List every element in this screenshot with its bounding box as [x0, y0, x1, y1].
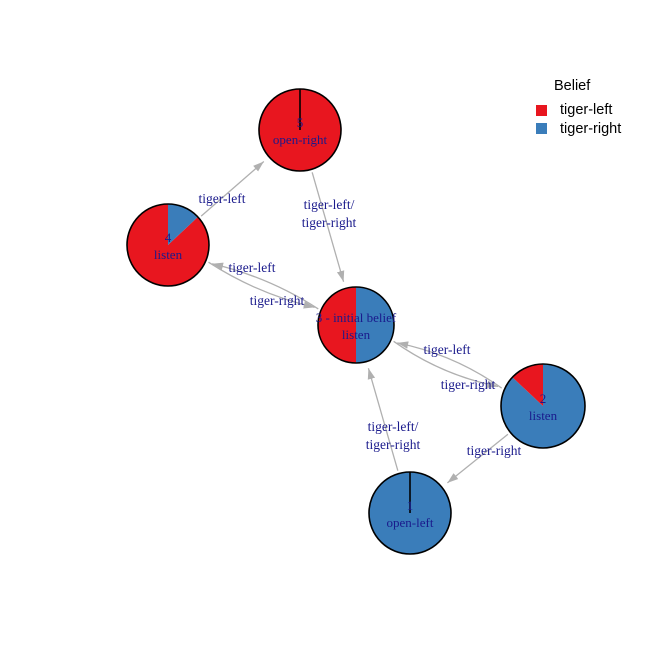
legend-swatch-tiger-left [536, 105, 547, 116]
node-id-label: 3 - initial belief [316, 310, 397, 325]
edge-label-2-to-3: tiger-left [424, 342, 471, 357]
node-1[interactable]: 1open-left [369, 472, 451, 554]
node-5[interactable]: 5open-right [259, 89, 341, 171]
diagram-canvas: 5open-right4listen3 - initial belieflist… [0, 0, 672, 672]
edge-label-4-to-5: tiger-left [199, 191, 246, 206]
nodes-group: 5open-right4listen3 - initial belieflist… [127, 89, 585, 554]
node-id-label: 4 [165, 230, 172, 245]
node-action-label: listen [342, 327, 371, 342]
legend-swatch-tiger-right [536, 123, 547, 134]
node-4[interactable]: 4listen [127, 204, 209, 286]
edge-label-5-to-3: tiger-right [302, 215, 357, 230]
edge-label-5-to-3: tiger-left/ [304, 197, 355, 212]
edge-label-1-to-3: tiger-left/ [368, 419, 419, 434]
edge-label-3-to-2: tiger-right [441, 377, 496, 392]
legend-item-tiger-right[interactable]: tiger-right [520, 122, 670, 137]
edge-label-4-to-3: tiger-right [250, 293, 305, 308]
legend-label-tiger-right: tiger-right [560, 122, 621, 137]
legend-item-tiger-left[interactable]: tiger-left [520, 103, 670, 118]
node-action-label: open-right [273, 132, 328, 147]
edge-label-2-to-1: tiger-right [467, 443, 522, 458]
node-3[interactable]: 3 - initial belieflisten [316, 287, 397, 363]
edge-label-3-to-4: tiger-left [229, 260, 276, 275]
node-action-label: open-left [387, 515, 434, 530]
node-2[interactable]: 2listen [501, 364, 585, 448]
legend: Belief tiger-left tiger-right [520, 78, 670, 140]
pie-slice-tiger-right [356, 287, 394, 363]
edge-label-1-to-3: tiger-right [366, 437, 421, 452]
edge-4-to-5 [201, 162, 264, 217]
node-id-label: 1 [407, 498, 414, 513]
legend-title: Belief [520, 78, 670, 94]
node-action-label: listen [529, 408, 558, 423]
legend-label-tiger-left: tiger-left [560, 103, 612, 118]
pie-slice-tiger-left [318, 287, 356, 363]
node-id-label: 2 [540, 391, 547, 406]
node-id-label: 5 [297, 115, 304, 130]
node-action-label: listen [154, 247, 183, 262]
edge-2-to-1 [447, 434, 508, 483]
